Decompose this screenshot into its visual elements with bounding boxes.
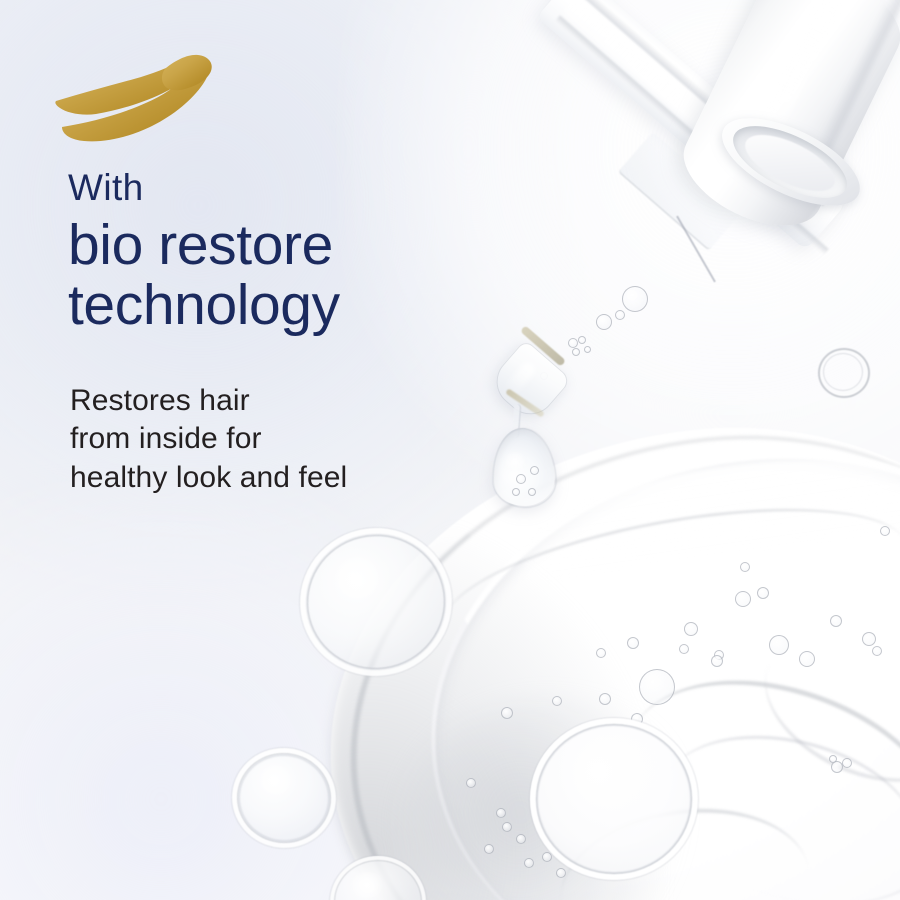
pipette-bubble-4 <box>568 338 578 348</box>
droplet-bubble-1 <box>516 474 526 484</box>
subcopy-block: Restores hair from inside for healthy lo… <box>70 382 470 497</box>
droplet-bubble-2 <box>530 466 539 475</box>
brand-logo <box>48 44 238 146</box>
pipette-bubble-6 <box>572 348 580 356</box>
subcopy-line-3: healthy look and feel <box>70 459 470 497</box>
pipette-bubble-7 <box>584 346 591 353</box>
subcopy-line-1: Restores hair <box>70 382 470 420</box>
dove-head <box>162 55 212 90</box>
pipette-bubble-1 <box>622 286 648 312</box>
headline-block: With bio restore technology <box>68 168 488 336</box>
pipette-bubble-2 <box>596 314 612 330</box>
subcopy-line-2: from inside for <box>70 420 470 458</box>
droplet-specular-highlight <box>502 452 528 472</box>
headline-title-line-1: bio restore <box>68 215 488 275</box>
dove-bird-logo <box>48 44 238 146</box>
droplet-bubble-4 <box>528 488 536 496</box>
headline-title-line-2: technology <box>68 275 488 335</box>
pipette-nozzle <box>486 339 572 425</box>
promo-image: With bio restore technology Restores hai… <box>0 0 900 900</box>
pipette-bubble-3 <box>615 310 625 320</box>
pipette-bubble-5 <box>578 336 586 344</box>
headline-kicker: With <box>68 168 488 209</box>
droplet-bubble-3 <box>512 488 520 496</box>
